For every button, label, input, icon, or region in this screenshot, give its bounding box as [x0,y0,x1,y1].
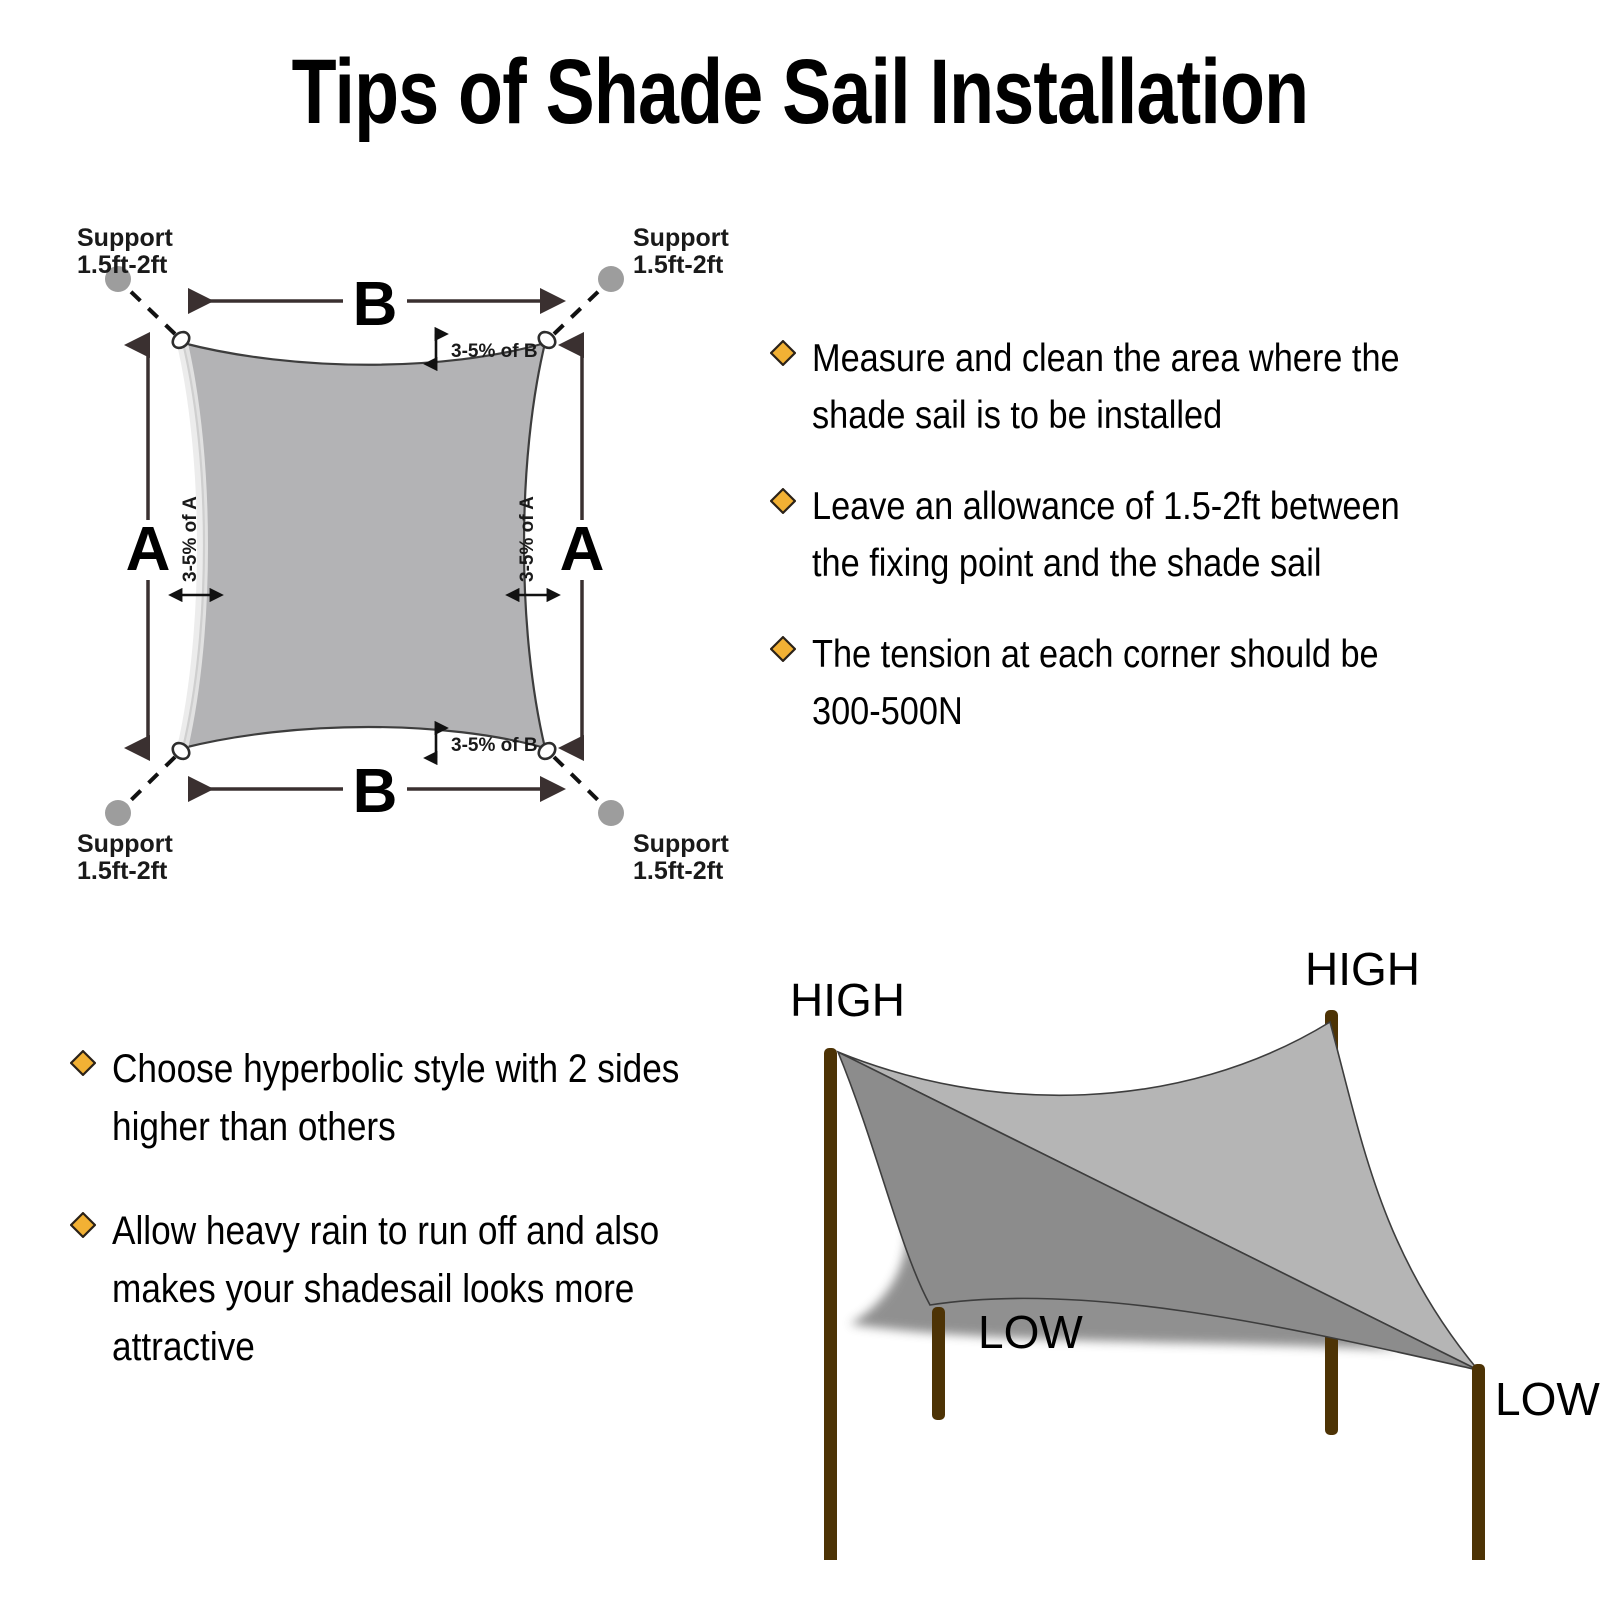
diamond-bullet-icon [770,636,796,662]
support-label-line1: Support [633,830,729,858]
support-dot-top-right [598,266,624,292]
dimension-label-b-bottom: B [353,757,398,826]
diamond-bullet-icon [770,340,796,366]
shade-sail-dimension-diagram: Support 1.5ft-2ft Support 1.5ft-2ft Supp… [55,200,795,900]
tip-item: Allow heavy rain to run off and also mak… [70,1202,770,1376]
support-dot-bottom-right [598,800,624,826]
support-label-line1: Support [633,224,729,252]
dimension-a-right: A [560,345,605,748]
corner-label-right-low: LOW [1495,1373,1600,1425]
tip-text: Measure and clean the area where the sha… [812,330,1426,444]
dimension-label-b-top: B [353,270,398,339]
tip-item: Leave an allowance of 1.5-2ft between th… [770,478,1510,592]
installation-tips-top: Measure and clean the area where the sha… [770,330,1510,774]
curve-callout-right: 3-5% of A [517,496,548,595]
dimension-a-left: A [126,345,171,748]
page-title: Tips of Shade Sail Installation [160,42,1440,142]
support-leader-top-left [125,286,175,334]
hyperbolic-shade-sail-diagram: HIGH HIGH LOW LOW [760,900,1600,1560]
tip-text: Allow heavy rain to run off and also mak… [112,1202,691,1376]
tip-text: Leave an allowance of 1.5-2ft between th… [812,478,1426,592]
curve-label-right: 3-5% of A [517,496,538,582]
tip-item: Measure and clean the area where the sha… [770,330,1510,444]
tip-item: The tension at each corner should be 300… [770,626,1510,740]
post-front-low [932,1307,945,1420]
tip-text: The tension at each corner should be 300… [812,626,1426,740]
diamond-bullet-icon [770,488,796,514]
support-leader-bottom-left [125,757,175,806]
curve-label-top: 3-5% of B [451,341,538,362]
diamond-bullet-icon [70,1212,96,1238]
support-label-top-left: Support 1.5ft-2ft [77,224,173,279]
shade-sail-shape [183,343,545,748]
corner-label-left-high: HIGH [790,974,905,1026]
support-dot-bottom-left [105,800,131,826]
corner-label-front-low: LOW [978,1306,1083,1358]
dimension-b-top: B [190,270,542,339]
dimension-b-bottom: B [190,757,542,826]
tip-text: Choose hyperbolic style with 2 sides hig… [112,1040,691,1156]
support-label-line2: 1.5ft-2ft [77,251,168,279]
support-label-line2: 1.5ft-2ft [633,857,724,885]
curve-callout-top: 3-5% of B [436,334,538,364]
curve-label-left: 3-5% of A [180,496,201,582]
curve-label-bottom: 3-5% of B [451,735,538,756]
support-label-line1: Support [77,830,173,858]
support-label-bottom-right: Support 1.5ft-2ft [633,830,729,885]
support-label-line2: 1.5ft-2ft [77,857,168,885]
diamond-bullet-icon [70,1050,96,1076]
support-leader-top-right [554,286,604,334]
dimension-label-a-left: A [126,515,171,584]
dimension-label-a-right: A [560,515,605,584]
support-label-line1: Support [77,224,173,252]
support-label-line2: 1.5ft-2ft [633,251,724,279]
support-label-top-right: Support 1.5ft-2ft [633,224,729,279]
post-right-low [1472,1364,1485,1560]
corner-label-right-high: HIGH [1305,943,1420,995]
support-leader-bottom-right [554,757,604,806]
tip-item: Choose hyperbolic style with 2 sides hig… [70,1040,770,1156]
installation-tips-bottom: Choose hyperbolic style with 2 sides hig… [70,1040,770,1422]
support-label-bottom-left: Support 1.5ft-2ft [77,830,173,885]
post-left-high [824,1048,837,1560]
